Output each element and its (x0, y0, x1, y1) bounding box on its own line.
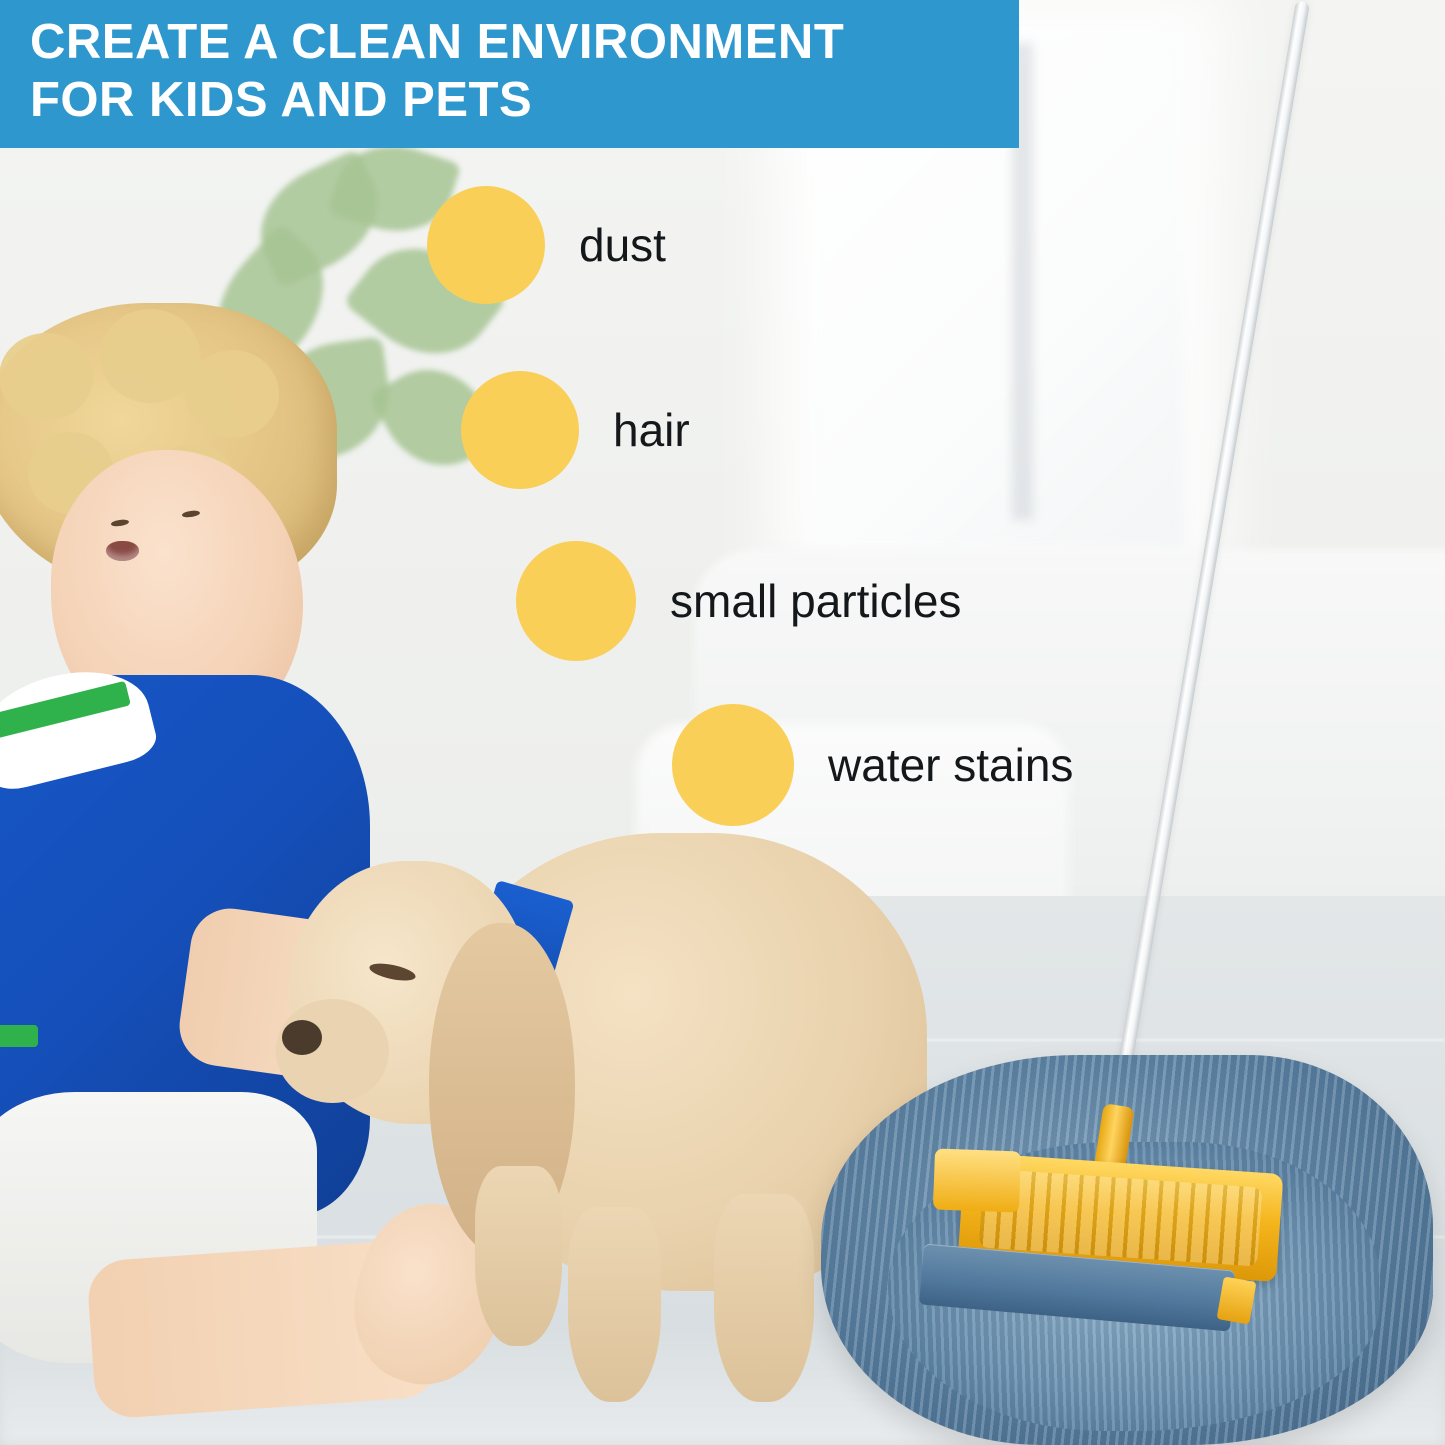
product-image-canvas: CREATE A CLEAN ENVIRONMENT FOR KIDS AND … (0, 0, 1445, 1445)
bullet-label-small-particles: small particles (670, 574, 961, 628)
bullet-label-hair: hair (613, 403, 690, 457)
bullet-label-dust: dust (579, 218, 666, 272)
bullet-callout-list: dust hair small particles water stains (0, 0, 1445, 1445)
bullet-label-water-stains: water stains (828, 738, 1073, 792)
bullet-item-dust: dust (427, 186, 666, 304)
bullet-dot-icon (427, 186, 545, 304)
bullet-dot-icon (461, 371, 579, 489)
bullet-item-water-stains: water stains (672, 704, 1073, 826)
bullet-dot-icon (516, 541, 636, 661)
bullet-dot-icon (672, 704, 794, 826)
bullet-item-hair: hair (461, 371, 690, 489)
bullet-item-small-particles: small particles (516, 541, 961, 661)
